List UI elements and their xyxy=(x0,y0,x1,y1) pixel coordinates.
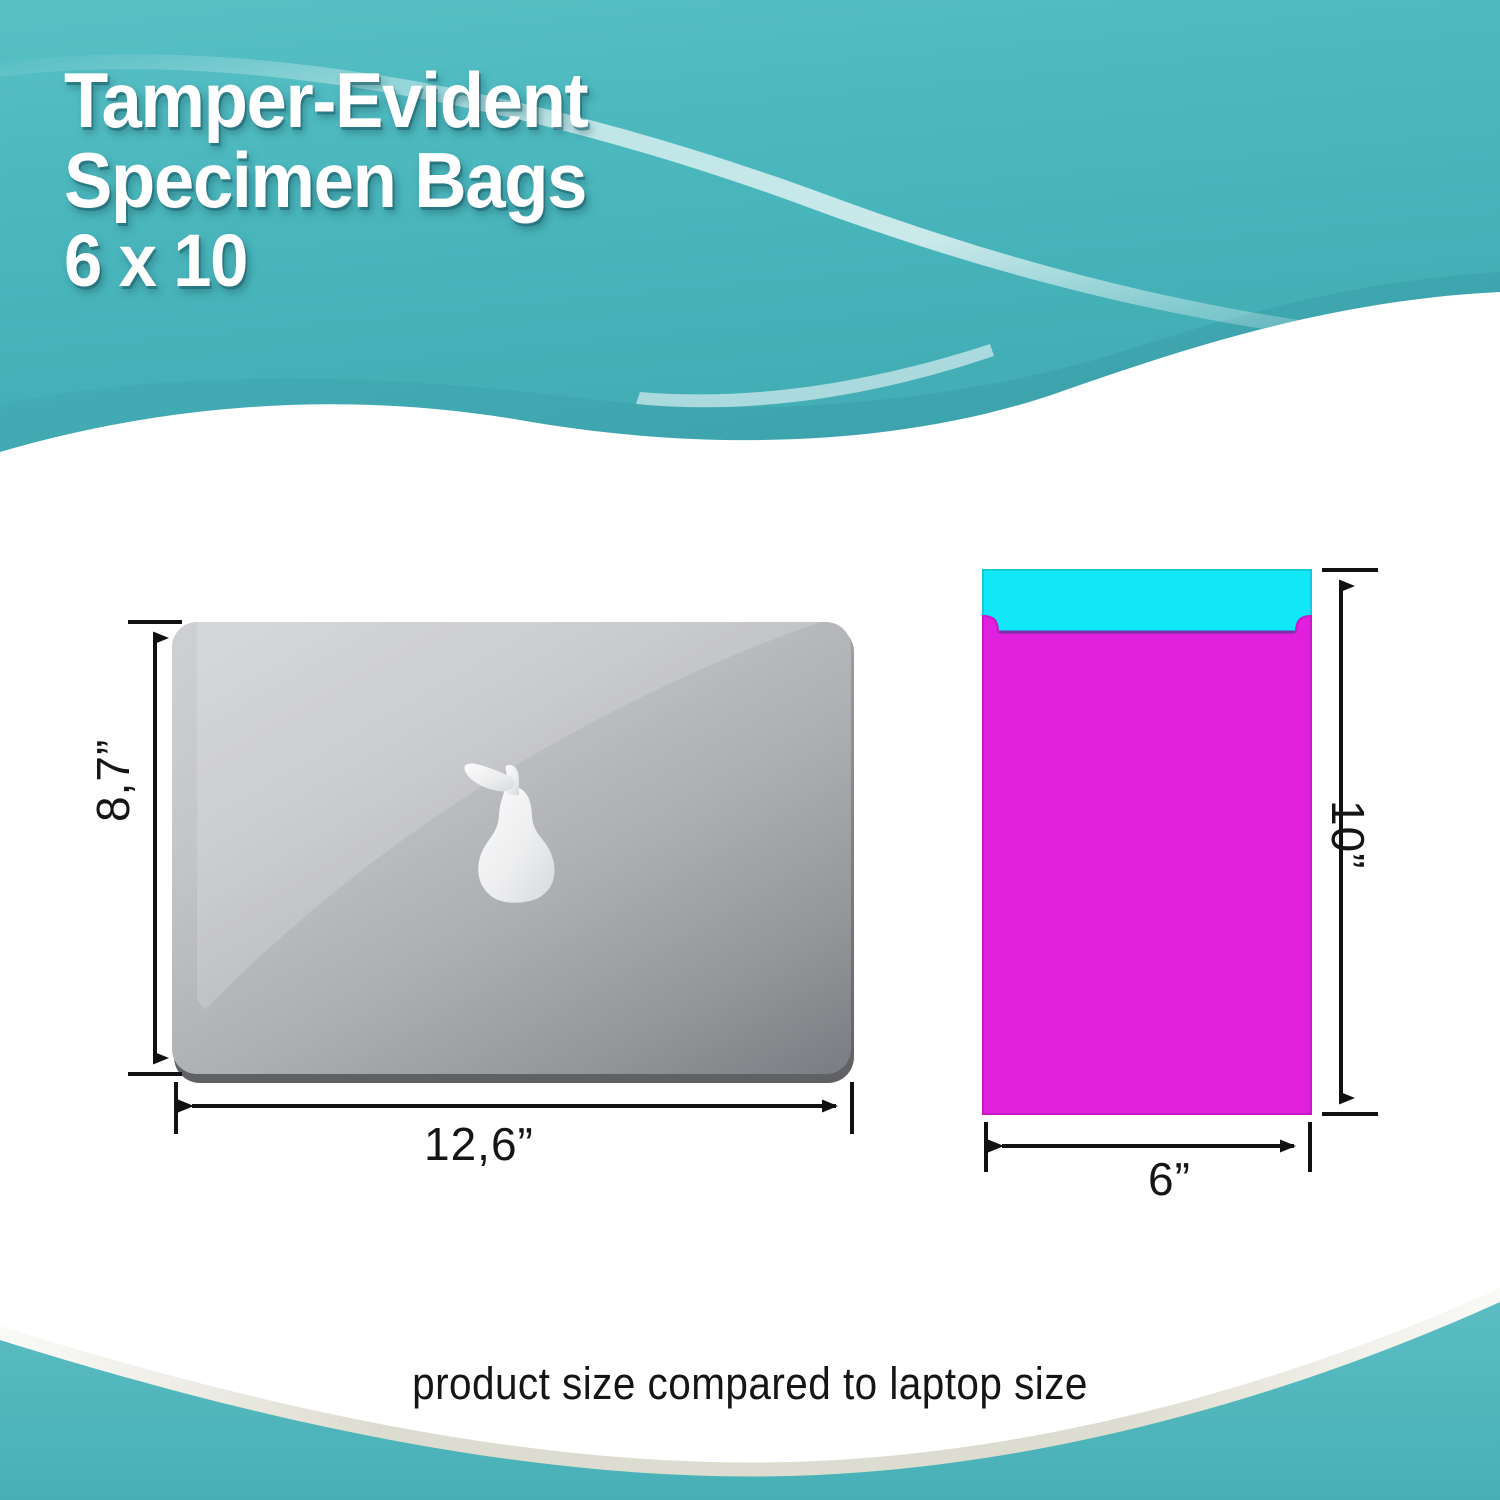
bag-height-dimension xyxy=(1322,570,1378,1114)
bag-width-dimension xyxy=(986,1122,1310,1172)
laptop-illustration xyxy=(172,622,854,1083)
bag-body xyxy=(983,616,1311,1114)
specimen-bag-illustration xyxy=(983,570,1311,1114)
laptop-width-dimension xyxy=(176,1082,852,1134)
product-comparison-artwork xyxy=(0,0,1500,1500)
bag-flap xyxy=(983,570,1311,632)
product-infographic: Tamper-Evident Specimen Bags 6 x 10 xyxy=(0,0,1500,1500)
